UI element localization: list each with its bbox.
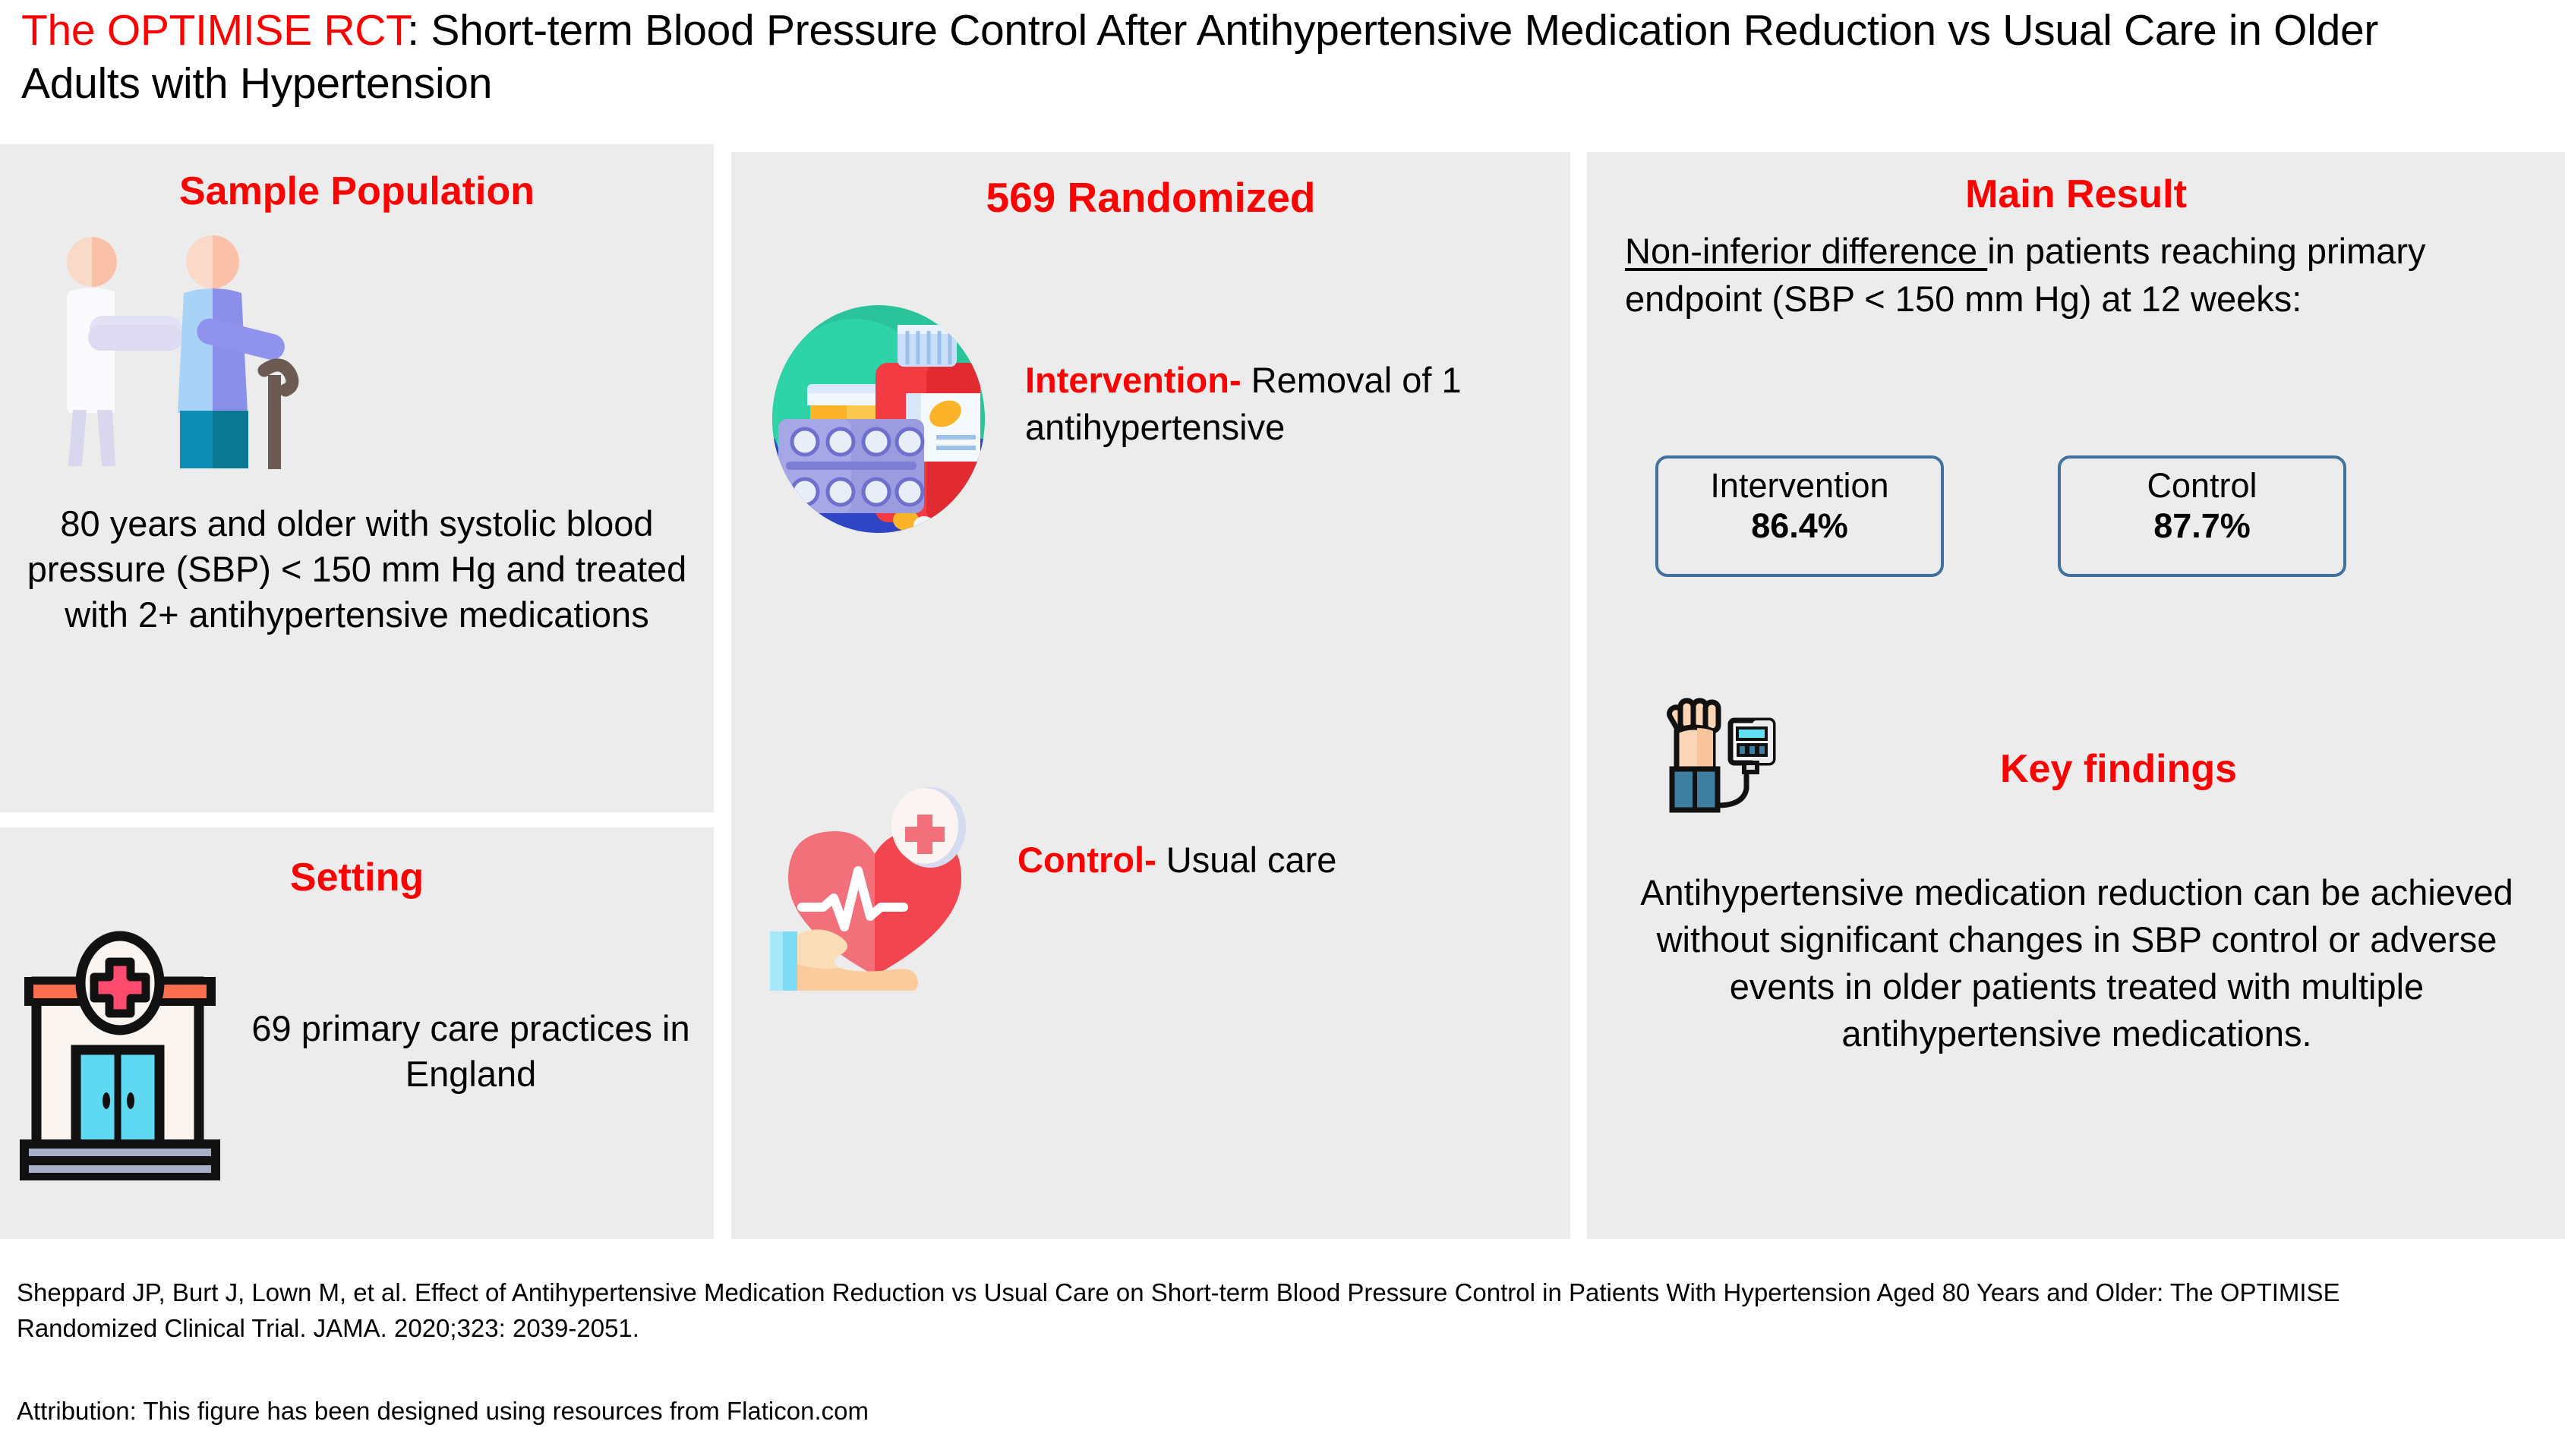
key-findings-heading: Key findings xyxy=(1891,748,2346,791)
result-label-intervention: Intervention xyxy=(1658,468,1941,505)
control-description: Control- Usual care xyxy=(1017,839,1549,881)
non-inferior-emphasis: Non-inferior difference xyxy=(1625,231,1987,271)
control-text: Usual care xyxy=(1156,840,1337,880)
randomized-count-heading: 569 Randomized xyxy=(731,175,1570,221)
setting-heading: Setting xyxy=(0,856,714,900)
result-box-control: Control 87.7% xyxy=(2058,455,2346,577)
intervention-description: Intervention- Removal of 1 antihypertens… xyxy=(1025,357,1557,451)
blood-pressure-monitor-icon xyxy=(1652,695,1788,831)
elderly-patient-caregiver-icon xyxy=(14,219,325,469)
main-result-summary: Non-inferior difference in patients reac… xyxy=(1625,228,2536,323)
result-value-intervention: 86.4% xyxy=(1658,505,1941,547)
control-label: Control- xyxy=(1017,840,1156,880)
sample-population-heading: Sample Population xyxy=(0,170,714,213)
sample-population-text: 80 years and older with systolic blood p… xyxy=(8,501,706,638)
clinic-building-icon xyxy=(15,922,235,1180)
result-box-intervention: Intervention 86.4% xyxy=(1655,455,1944,577)
result-value-control: 87.7% xyxy=(2061,505,2343,547)
key-findings-text: Antihypertensive medication reduction ca… xyxy=(1602,869,2551,1057)
citation-text: Sheppard JP, Burt J, Lown M, et al. Effe… xyxy=(17,1275,2386,1347)
page-title-brand: The OPTIMISE RCT xyxy=(21,6,407,55)
intervention-label: Intervention- xyxy=(1025,360,1241,400)
result-label-control: Control xyxy=(2061,468,2343,505)
medication-pills-icon xyxy=(763,304,995,535)
heart-in-hand-icon xyxy=(759,786,991,991)
setting-text: 69 primary care practices in England xyxy=(243,1006,699,1097)
main-result-heading: Main Result xyxy=(1587,173,2565,216)
page-title: The OPTIMISE RCT: Short-term Blood Press… xyxy=(21,5,2436,110)
attribution-text: Attribution: This figure has been design… xyxy=(17,1397,1839,1426)
